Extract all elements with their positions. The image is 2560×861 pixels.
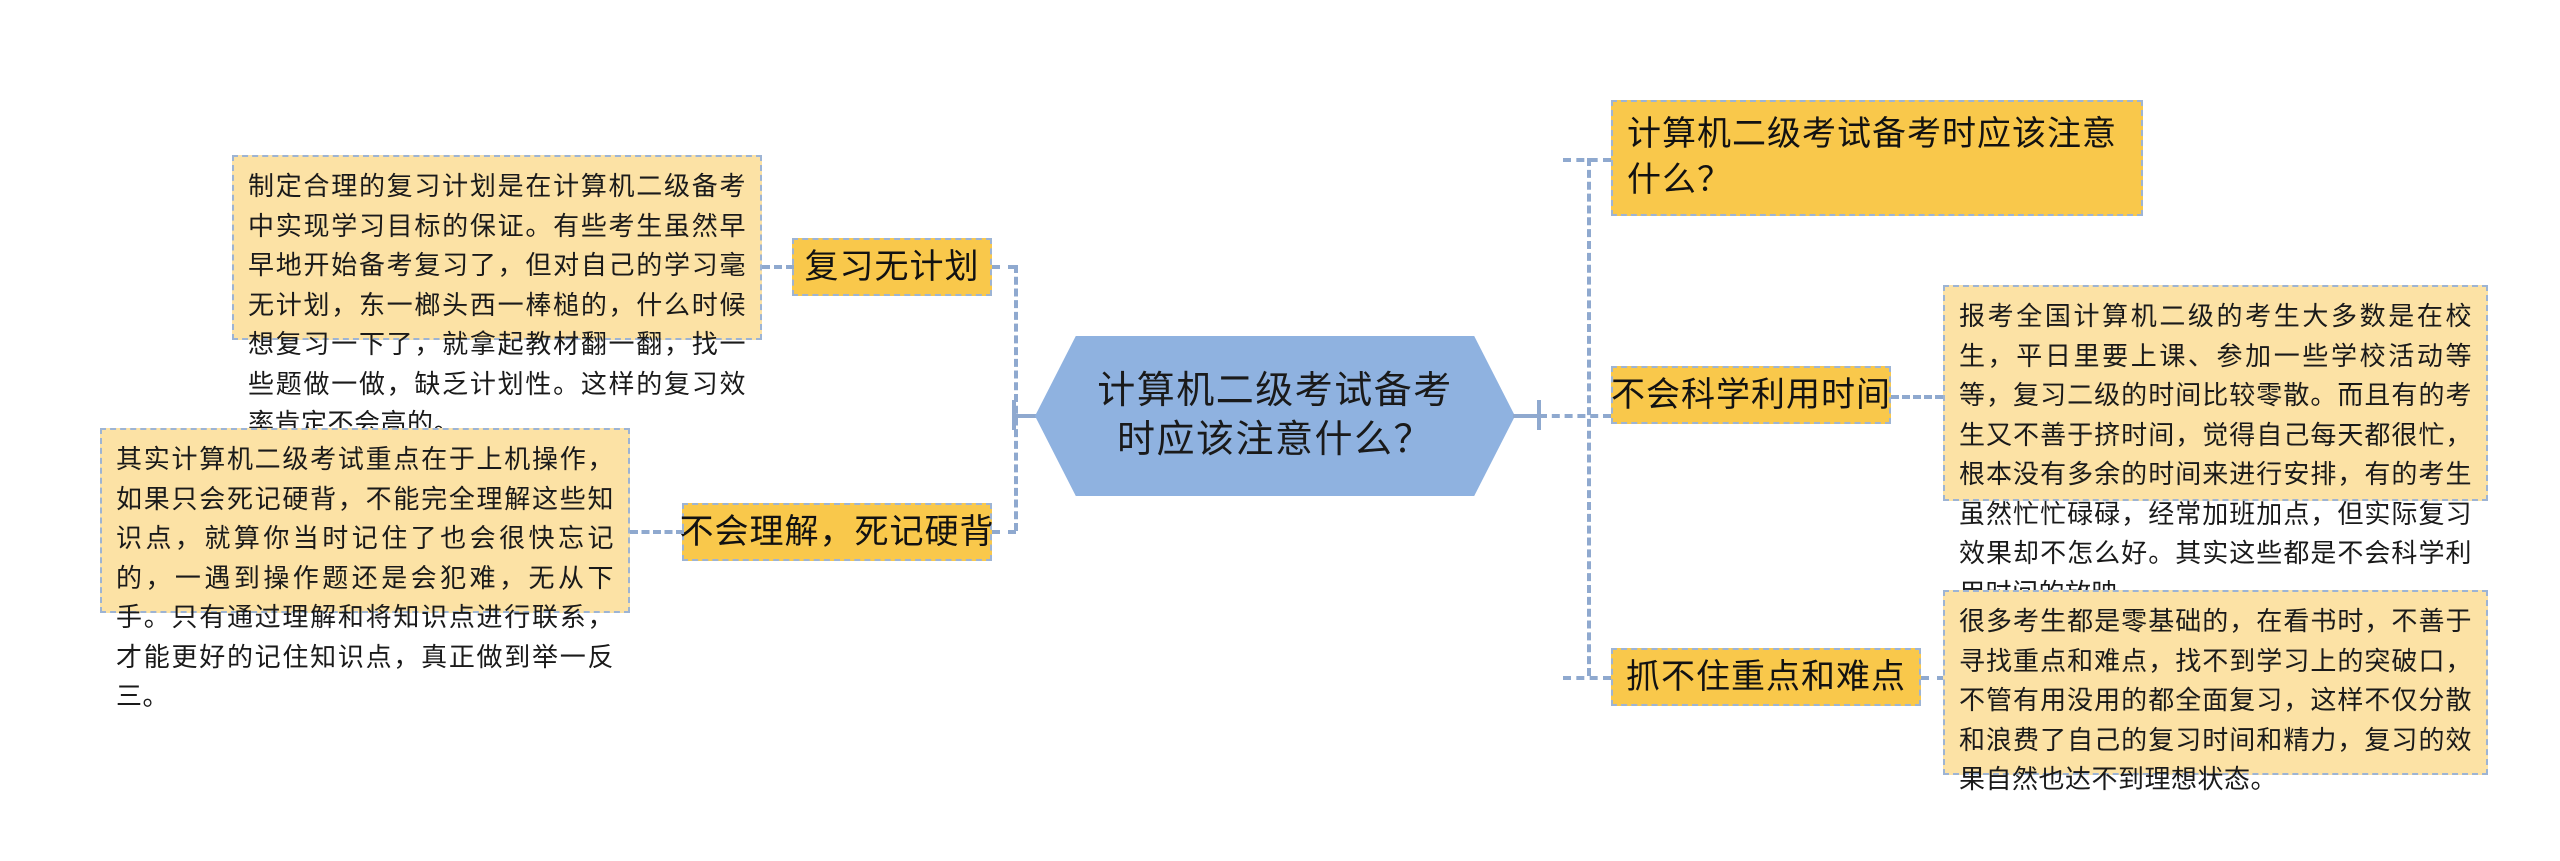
connector-left-note2-to-label2 (630, 530, 684, 534)
connector-left-trunk-to-label2 (992, 530, 1016, 534)
left-label-rote-memorization[interactable]: 不会理解，死记硬背 (682, 503, 992, 561)
right-label-main-question[interactable]: 计算机二级考试备考时应该注意什么？ (1611, 100, 2143, 216)
connector-left-note1-to-label1 (762, 265, 794, 269)
connector-right-label3-to-note3 (1921, 676, 1945, 680)
connector-right-trunk-to-label1 (1563, 158, 1611, 162)
right-label-poor-time-use[interactable]: 不会科学利用时间 (1611, 366, 1891, 424)
connector-right-trunk-to-label3 (1563, 676, 1611, 680)
connector-left-trunk (1014, 265, 1018, 531)
connector-right-label2-to-note2 (1891, 395, 1943, 399)
right-note-key-points[interactable]: 很多考生都是零基础的，在看书时，不善于寻找重点和难点，找不到学习上的突破口，不管… (1943, 590, 2488, 775)
connector-center-to-right-trunk (1513, 414, 1539, 418)
left-label-no-review-plan[interactable]: 复习无计划 (792, 238, 992, 296)
left-note-2[interactable]: 其实计算机二级考试重点在于上机操作，如果只会死记硬背，不能完全理解这些知识点，就… (100, 428, 630, 613)
center-node[interactable]: 计算机二级考试备考时应该注意什么？ (1035, 336, 1515, 496)
left-note-1[interactable]: 制定合理的复习计划是在计算机二级备考中实现学习目标的保证。有些考生虽然早早地开始… (232, 155, 762, 340)
connector-left-trunk-to-label1 (992, 265, 1016, 269)
connector-left-trunk-cap (1012, 400, 1016, 430)
center-node-label: 计算机二级考试备考时应该注意什么？ (1035, 336, 1515, 496)
mindmap-canvas: 制定合理的复习计划是在计算机二级备考中实现学习目标的保证。有些考生虽然早早地开始… (0, 0, 2560, 861)
connector-right-trunk-to-label2 (1539, 414, 1611, 418)
right-label-missing-key-points[interactable]: 抓不住重点和难点 (1611, 648, 1921, 706)
right-note-time-management[interactable]: 报考全国计算机二级的考生大多数是在校生，平日里要上课、参加一些学校活动等等，复习… (1943, 285, 2488, 501)
